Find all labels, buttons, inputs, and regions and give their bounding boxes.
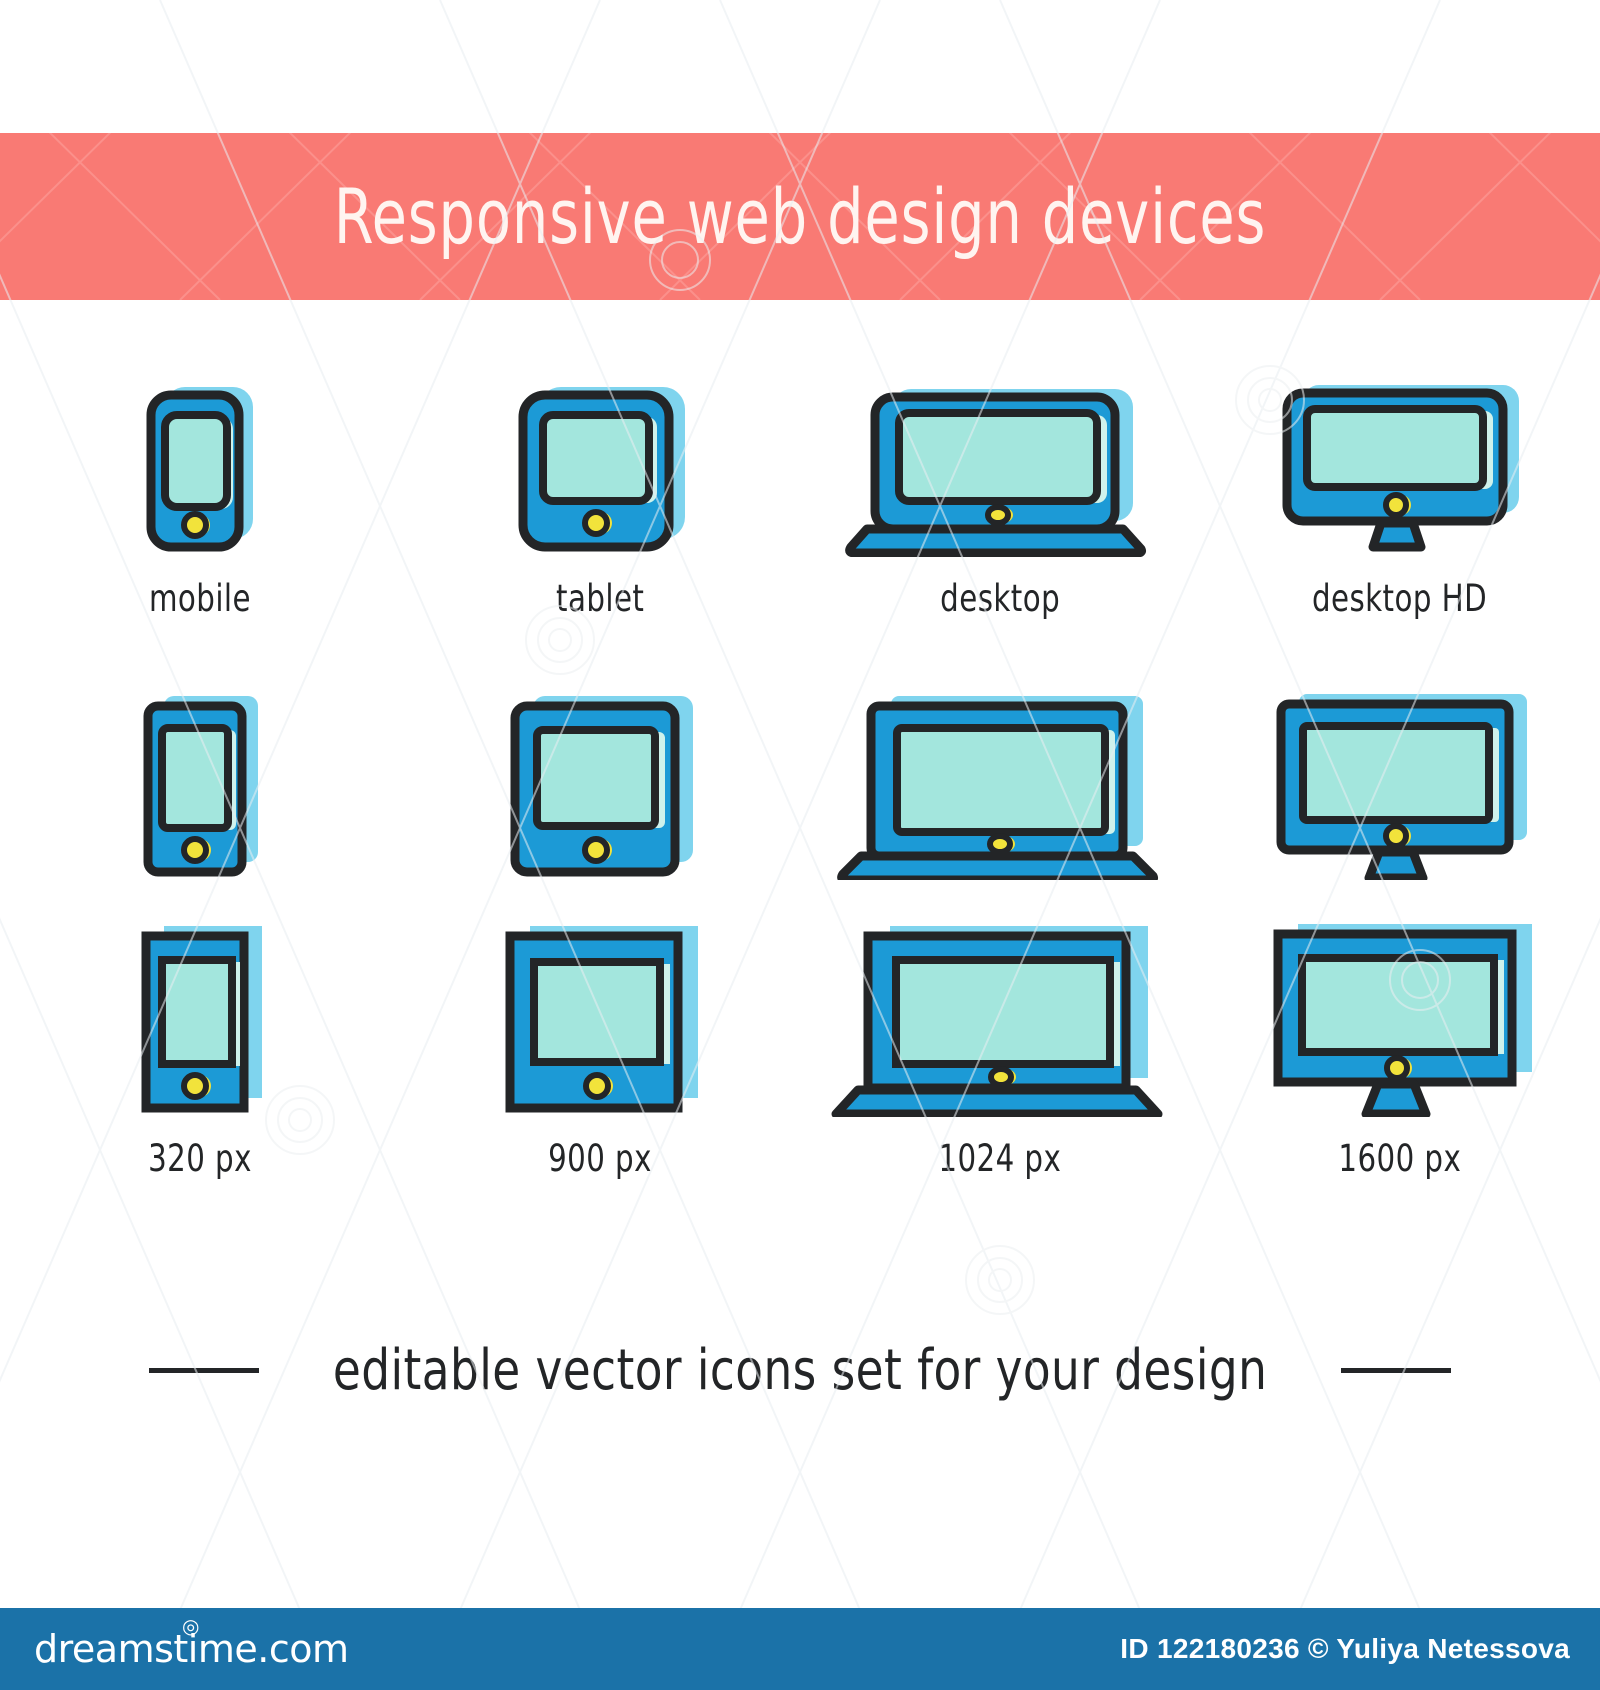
tagline-row: editable vector icons set for your desig… — [0, 1330, 1600, 1410]
device-label: 900 px — [548, 1137, 652, 1180]
device-cell-desktop-hd[interactable] — [1200, 700, 1600, 900]
device-label: desktop — [940, 577, 1060, 620]
page-title: Responsive web design devices — [128, 133, 1472, 300]
device-cell-tablet[interactable]: 900 px — [400, 937, 800, 1180]
mobile-phone-icon[interactable] — [130, 700, 270, 880]
spiral-icon: ◎ — [182, 1614, 199, 1638]
device-row-sizes: 320 px 900 px — [0, 900, 1600, 1180]
device-cell-desktop-hd[interactable]: desktop HD — [1200, 377, 1600, 620]
device-cell-tablet[interactable]: tablet — [400, 377, 800, 620]
device-cell-mobile[interactable]: 320 px — [0, 937, 400, 1180]
device-cell-tablet[interactable] — [400, 700, 800, 900]
dreamstime-logo[interactable]: dreamstime.com ◎ — [34, 1627, 348, 1671]
laptop-icon[interactable] — [845, 377, 1155, 557]
poster-root: Responsive web design devices mobile — [0, 0, 1600, 1690]
tablet-icon[interactable] — [490, 937, 710, 1117]
mobile-phone-icon[interactable] — [135, 377, 265, 557]
header-banner: Responsive web design devices — [0, 133, 1600, 300]
laptop-icon[interactable] — [835, 700, 1165, 880]
device-label: desktop HD — [1312, 577, 1487, 620]
device-cell-desktop[interactable]: desktop — [800, 377, 1200, 620]
device-label: 1024 px — [939, 1137, 1062, 1180]
device-row-medium — [0, 620, 1600, 900]
laptop-icon[interactable] — [830, 937, 1170, 1117]
device-cell-desktop[interactable]: 1024 px — [800, 937, 1200, 1180]
tagline-rule-right — [1341, 1368, 1451, 1373]
device-label: mobile — [149, 577, 251, 620]
tagline-text: editable vector icons set for your desig… — [333, 1338, 1267, 1403]
footer-bar: dreamstime.com ◎ ID 122180236 © Yuliya N… — [0, 1608, 1600, 1690]
device-cell-mobile[interactable] — [0, 700, 400, 900]
tagline-rule-left — [149, 1368, 259, 1373]
monitor-icon[interactable] — [1255, 700, 1545, 880]
image-credit: ID 122180236 © Yuliya Netessova — [1120, 1633, 1570, 1665]
monitor-icon[interactable] — [1250, 937, 1550, 1117]
device-row-names: mobile tablet — [0, 355, 1600, 620]
device-cell-desktop[interactable] — [800, 700, 1200, 900]
device-cell-mobile[interactable]: mobile — [0, 377, 400, 620]
tablet-icon[interactable] — [505, 377, 695, 557]
mobile-phone-icon[interactable] — [128, 937, 273, 1117]
tablet-icon[interactable] — [495, 700, 705, 880]
device-label: tablet — [556, 577, 644, 620]
icon-grid: mobile tablet — [0, 355, 1600, 1180]
monitor-icon[interactable] — [1265, 377, 1535, 557]
device-cell-desktop-hd[interactable]: 1600 px — [1200, 937, 1600, 1180]
device-label: 320 px — [148, 1137, 252, 1180]
device-label: 1600 px — [1339, 1137, 1462, 1180]
